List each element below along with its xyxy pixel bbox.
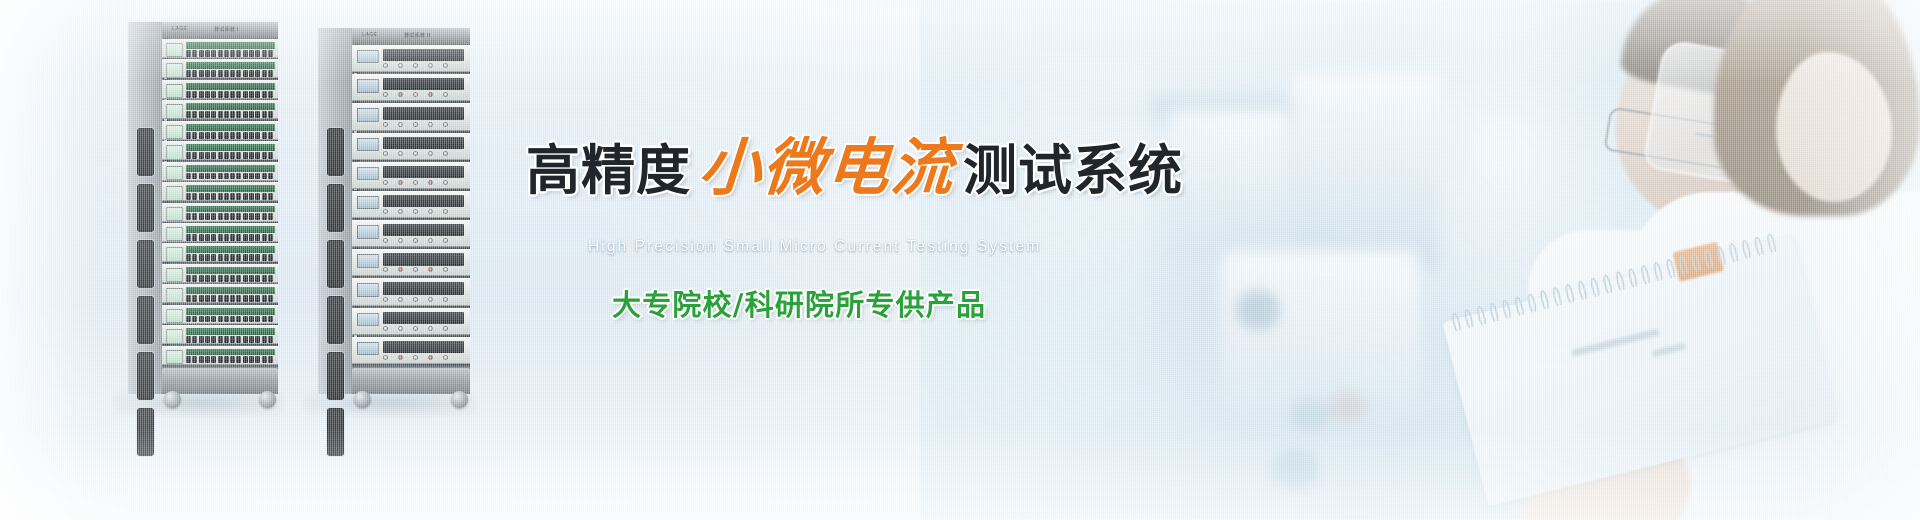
module-port [249,213,254,220]
module-port [230,152,235,159]
instrument-knob-row [383,237,464,243]
module-display [166,186,183,200]
module-port [230,193,235,200]
instrument-knob[interactable] [428,151,433,156]
module-port [249,193,254,200]
module-port [218,70,223,77]
rack-vent-cutout [137,408,154,456]
instrument-knob[interactable] [383,326,388,331]
module-port [205,91,210,98]
module-port [211,213,216,220]
rack-module[interactable] [352,337,470,364]
instrument-panel [383,224,464,236]
rack-vent-cutout [327,352,344,400]
instrument-knob[interactable] [413,355,418,360]
instrument-knob[interactable] [383,151,388,156]
instrument-knob[interactable] [398,355,403,360]
module-port [262,91,267,98]
module-port [186,234,191,241]
module-port [255,132,260,139]
module-display [166,247,183,261]
rack-module[interactable] [162,59,278,78]
instrument-knob-row [383,296,464,302]
rack-module[interactable] [162,100,278,119]
module-port [218,173,223,180]
instrument-display [357,313,379,326]
instrument-panel [383,253,464,265]
instrument-knob-row [383,354,464,360]
instrument-knob[interactable] [383,267,388,272]
module-terminal-strip [186,226,275,233]
module-port [186,275,191,282]
rack-module[interactable] [162,121,278,140]
module-port [218,152,223,159]
module-port [186,356,191,363]
module-port [262,70,267,77]
rack-vent-cutout [137,184,154,232]
instrument-knob[interactable] [398,122,403,127]
rack-module[interactable] [352,278,470,305]
rack-module[interactable] [352,133,470,160]
instrument-knob[interactable] [428,355,433,360]
rack-module[interactable] [162,39,278,58]
instrument-knob[interactable] [398,63,403,68]
module-port [192,193,197,200]
module-port [268,152,273,159]
module-port [255,50,260,57]
instrument-knob-row [383,266,464,272]
rack-module[interactable] [352,45,470,72]
module-port-row [186,295,275,302]
module-port [230,91,235,98]
module-port [205,234,210,241]
module-port [268,295,273,302]
module-port [255,213,260,220]
module-port [255,234,260,241]
module-port [186,254,191,261]
module-port [243,70,248,77]
module-port [255,111,260,118]
module-port-row [186,356,275,363]
module-port [192,70,197,77]
instrument-knob[interactable] [398,297,403,302]
instrument-knob[interactable] [383,238,388,243]
product-hero-banner: LAGE 测试系统 I 高精度小微电流测试系统 LAGE 测试系统 II 高精 [0,0,1920,520]
module-port [192,50,197,57]
module-port [205,173,210,180]
module-port [230,70,235,77]
instrument-knob[interactable] [413,238,418,243]
module-port [218,254,223,261]
instrument-knob[interactable] [428,209,433,214]
instrument-knob-row [383,91,464,97]
module-port [224,275,229,282]
module-port [211,275,216,282]
module-port [192,132,197,139]
rack-module[interactable] [162,264,278,283]
instrument-knob[interactable] [428,180,433,185]
rack-module[interactable] [352,220,470,247]
instrument-knob[interactable] [443,355,448,360]
module-port-row [186,336,275,343]
module-terminal-strip [186,185,275,192]
module-port [262,254,267,261]
module-port [262,336,267,343]
module-port [211,173,216,180]
module-port [186,132,191,139]
instrument-panel [383,195,464,207]
module-terminal-strip [186,267,275,274]
module-port-row [186,173,275,180]
instrument-knob[interactable] [443,180,448,185]
instrument-knob[interactable] [443,326,448,331]
module-port [262,275,267,282]
instrument-knob[interactable] [398,151,403,156]
rack-module[interactable] [162,325,278,344]
instrument-knob[interactable] [443,151,448,156]
rack-module[interactable] [162,162,278,181]
module-port [236,213,241,220]
rack-module[interactable] [162,182,278,201]
rack-b-header: LAGE 测试系统 II [352,28,470,44]
rack-vent-cutout [137,128,154,176]
module-port [224,193,229,200]
instrument-knob[interactable] [413,151,418,156]
module-port [236,70,241,77]
rack-vent-cutout [327,240,344,288]
rack-module[interactable] [162,305,278,324]
instrument-knob[interactable] [443,238,448,243]
instrument-knob[interactable] [383,63,388,68]
instrument-display [357,225,379,238]
rack-module[interactable] [162,243,278,262]
module-port [205,254,210,261]
module-display [166,350,183,364]
rack-module[interactable] [352,308,470,335]
instrument-knob[interactable] [443,63,448,68]
instrument-knob[interactable] [428,122,433,127]
rack-module[interactable] [162,346,278,365]
rack-a-caster-left [164,391,181,408]
instrument-knob[interactable] [413,63,418,68]
module-port [218,91,223,98]
module-port [192,91,197,98]
rack-a-body: LAGE 测试系统 I 高精度小微电流测试系统 [162,22,278,394]
module-port-row [186,111,275,118]
rack-module[interactable] [352,249,470,276]
module-port [236,356,241,363]
module-port [243,275,248,282]
module-port [262,111,267,118]
module-port [268,193,273,200]
module-port [199,152,204,159]
instrument-knob[interactable] [428,63,433,68]
module-port [199,275,204,282]
instrument-display [357,138,379,151]
rack-b-brand: LAGE [362,32,378,38]
module-port [218,336,223,343]
module-port [186,295,191,302]
page-title: 高精度小微电流测试系统 [526,137,1183,199]
module-port [211,132,216,139]
module-port [205,213,210,220]
instrument-knob[interactable] [428,92,433,97]
instrument-knob-row [383,150,464,156]
instrument-knob[interactable] [383,180,388,185]
module-display [166,268,183,282]
rack-a-caster-right [259,391,276,408]
instrument-knob[interactable] [413,122,418,127]
module-port [262,132,267,139]
instrument-knob[interactable] [383,122,388,127]
rack-module[interactable] [352,191,470,218]
instrument-knob[interactable] [428,326,433,331]
module-port [199,173,204,180]
rack-module[interactable] [162,284,278,303]
instrument-knob[interactable] [398,326,403,331]
instrument-knob[interactable] [383,92,388,97]
rack-vent-cutout [137,352,154,400]
module-port [218,50,223,57]
instrument-panel [383,282,464,294]
module-port [268,111,273,118]
module-port [236,193,241,200]
module-port [199,336,204,343]
rack-a-brand: LAGE [172,26,188,32]
module-port [249,111,254,118]
module-port [224,50,229,57]
module-port [236,254,241,261]
module-port [268,336,273,343]
instrument-knob[interactable] [428,267,433,272]
module-port [199,193,204,200]
module-port [268,316,273,323]
module-port [230,234,235,241]
module-display [166,227,183,241]
module-port [230,132,235,139]
instrument-panel [383,166,464,178]
module-port [255,70,260,77]
module-port [268,254,273,261]
module-port [218,193,223,200]
module-port [224,152,229,159]
module-port [199,50,204,57]
module-port [205,356,210,363]
instrument-knob[interactable] [383,355,388,360]
rack-a-header: LAGE 测试系统 I [162,22,278,38]
module-port [211,152,216,159]
module-port [218,132,223,139]
instrument-display [357,167,379,180]
module-display [166,207,183,221]
module-port [211,91,216,98]
module-port [218,316,223,323]
rack-module[interactable] [162,223,278,242]
module-port [230,356,235,363]
instrument-knob[interactable] [428,297,433,302]
module-port [199,70,204,77]
module-port [224,70,229,77]
instrument-knob[interactable] [443,209,448,214]
instrument-knob[interactable] [413,209,418,214]
module-port-row [186,50,275,57]
instrument-knob[interactable] [398,238,403,243]
module-port [249,275,254,282]
module-terminal-strip [186,349,275,356]
module-port [199,254,204,261]
rack-module[interactable] [162,141,278,160]
module-display [166,329,183,343]
module-port [205,336,210,343]
module-port [255,336,260,343]
module-display [166,166,183,180]
instrument-knob[interactable] [398,92,403,97]
module-port [255,193,260,200]
instrument-knob-row [383,179,464,185]
module-port [249,295,254,302]
module-port [211,70,216,77]
module-port [205,50,210,57]
module-port [255,316,260,323]
instrument-knob[interactable] [413,180,418,185]
instrument-display [357,196,379,209]
instrument-knob-row [383,325,464,331]
module-port [199,91,204,98]
rack-module[interactable] [352,162,470,189]
rack-vent-cutout [327,408,344,456]
module-port [224,173,229,180]
module-port [249,316,254,323]
module-port [224,356,229,363]
module-port [199,356,204,363]
module-port [192,213,197,220]
rack-module[interactable] [162,80,278,99]
module-port [236,91,241,98]
instrument-knob[interactable] [443,267,448,272]
module-port [268,50,273,57]
module-port [192,152,197,159]
instrument-knob[interactable] [443,122,448,127]
module-port [262,193,267,200]
module-port [262,152,267,159]
module-port [230,173,235,180]
module-port [218,356,223,363]
instrument-knob[interactable] [428,238,433,243]
module-port [186,173,191,180]
module-display [166,104,183,118]
module-port [192,295,197,302]
module-port [243,193,248,200]
module-display [166,43,183,57]
instrument-knob[interactable] [398,267,403,272]
instrument-knob[interactable] [413,92,418,97]
module-port [218,111,223,118]
module-port [186,316,191,323]
rack-a-side-panel [128,22,162,394]
rack-module[interactable] [162,203,278,222]
rack-a-base [162,368,278,394]
module-port [268,213,273,220]
module-display [166,84,183,98]
instrument-knob-row [383,121,464,127]
module-port [224,91,229,98]
module-port [249,336,254,343]
module-port [268,234,273,241]
module-port [211,295,216,302]
module-port [211,316,216,323]
module-port [205,193,210,200]
instrument-knob-row [383,208,464,214]
module-port [249,50,254,57]
module-port [224,254,229,261]
instrument-knob[interactable] [443,297,448,302]
module-port [249,173,254,180]
module-port [249,234,254,241]
instrument-display [357,254,379,267]
module-port [186,336,191,343]
module-display [166,63,183,77]
rack-a-model: 测试系统 I [214,26,239,33]
module-port [243,316,248,323]
module-port [211,193,216,200]
module-port [249,152,254,159]
module-port [243,50,248,57]
instrument-knob[interactable] [398,180,403,185]
module-port [262,173,267,180]
equipment-rack-b: LAGE 测试系统 II 高精度小微电流测试系统 [318,28,470,394]
module-port [243,132,248,139]
instrument-knob[interactable] [398,209,403,214]
module-port [255,173,260,180]
instrument-knob[interactable] [443,92,448,97]
equipment-rack-a: LAGE 测试系统 I 高精度小微电流测试系统 [128,22,278,394]
module-port [205,152,210,159]
module-port [268,132,273,139]
module-port [186,111,191,118]
instrument-display [357,283,379,296]
module-port [218,275,223,282]
module-port [249,356,254,363]
instrument-knob[interactable] [413,326,418,331]
rack-b-body: LAGE 测试系统 II 高精度小微电流测试系统 [352,28,470,394]
module-port [230,50,235,57]
instrument-knob[interactable] [413,297,418,302]
module-port [262,234,267,241]
module-terminal-strip [186,287,275,294]
english-subtitle: High Precision Small Micro Current Testi… [588,238,1041,256]
module-port [243,152,248,159]
instrument-knob[interactable] [383,209,388,214]
module-port [218,213,223,220]
rack-vent-cutout [327,296,344,344]
module-port [199,213,204,220]
module-port [224,111,229,118]
module-port [255,275,260,282]
module-terminal-strip [186,144,275,151]
instrument-knob[interactable] [413,267,418,272]
rack-module[interactable] [352,103,470,130]
module-port [249,254,254,261]
module-terminal-strip [186,165,275,172]
module-port [192,336,197,343]
module-port [236,275,241,282]
instrument-panel [383,312,464,324]
instrument-knob[interactable] [383,297,388,302]
module-port [262,50,267,57]
headline-suffix: 测试系统 [963,139,1183,202]
module-port [236,234,241,241]
rack-module[interactable] [352,74,470,101]
